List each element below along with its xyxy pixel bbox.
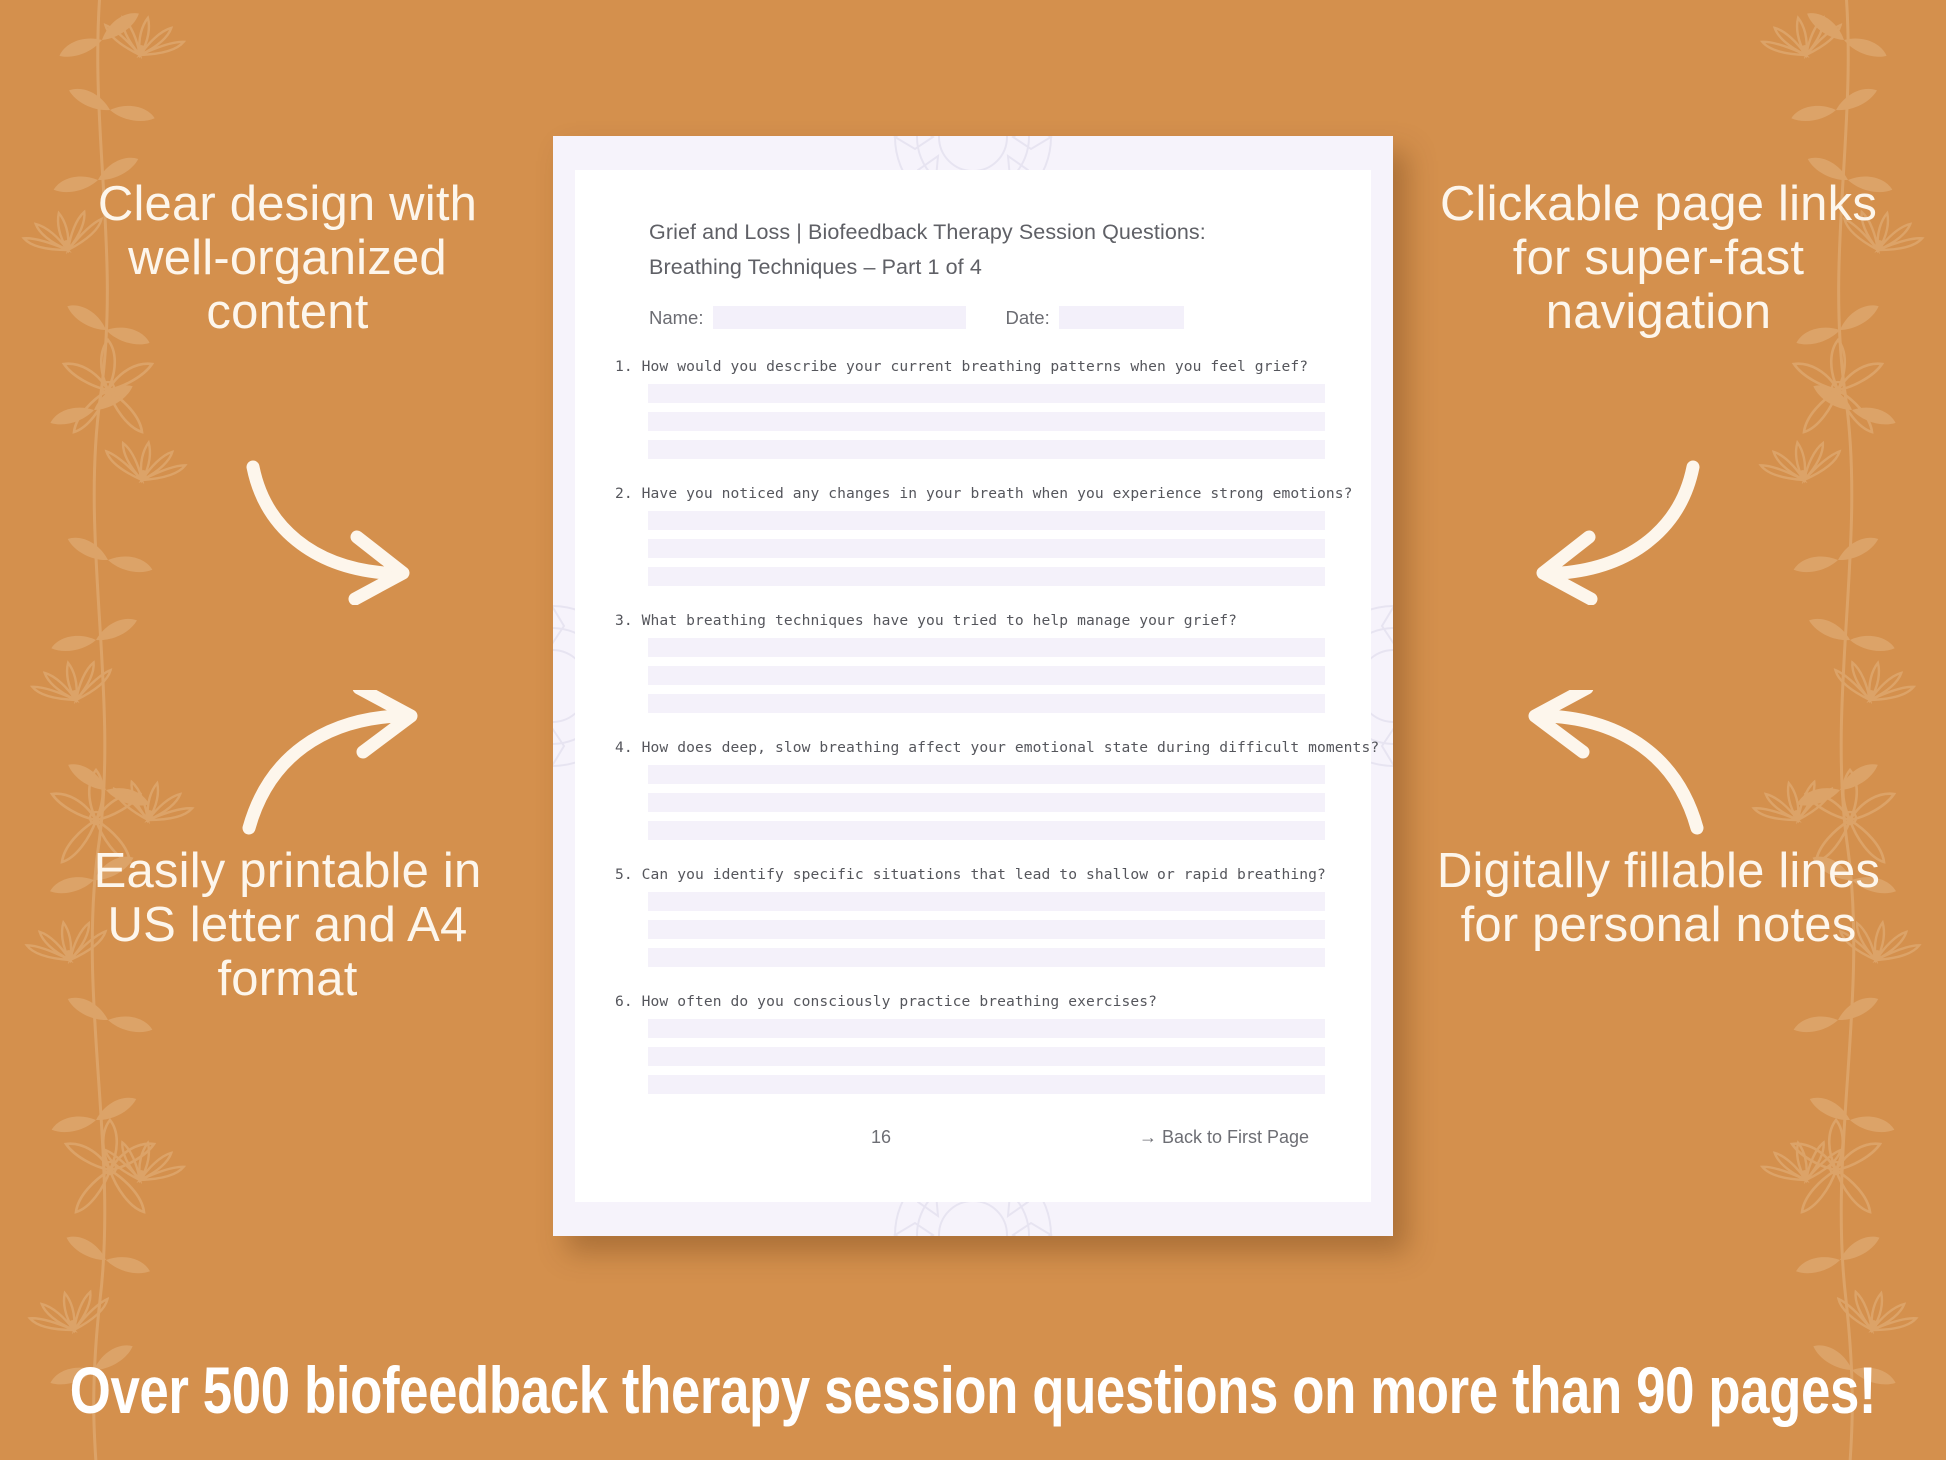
answer-line[interactable] [648, 948, 1325, 967]
question-item: 2. Have you noticed any changes in your … [615, 485, 1325, 586]
answer-lines [648, 765, 1325, 840]
feature-text-top-right: Clickable page links for super-fast navi… [1431, 178, 1886, 340]
answer-line[interactable] [648, 384, 1325, 403]
answer-line[interactable] [648, 412, 1325, 431]
curved-arrow-left-icon [1511, 690, 1711, 840]
question-text: 5. Can you identify specific situations … [615, 866, 1325, 883]
feature-text-bottom-left: Easily printable in US letter and A4 for… [60, 845, 515, 1007]
question-text: 3. What breathing techniques have you tr… [615, 612, 1325, 629]
page-number: 16 [871, 1127, 891, 1148]
feature-text-bottom-right: Digitally fillable lines for personal no… [1431, 845, 1886, 953]
answer-line[interactable] [648, 1019, 1325, 1038]
question-item: 5. Can you identify specific situations … [615, 866, 1325, 967]
back-to-first-page-link[interactable]: → Back to First Page [1139, 1127, 1309, 1148]
feature-text-top-left: Clear design with well-organized content [60, 178, 515, 340]
curved-arrow-right-icon [235, 455, 435, 605]
answer-line[interactable] [648, 567, 1325, 586]
answer-line[interactable] [648, 1047, 1325, 1066]
answer-line[interactable] [648, 765, 1325, 784]
answer-lines [648, 1019, 1325, 1094]
document-preview[interactable]: Grief and Loss | Biofeedback Therapy Ses… [553, 136, 1393, 1236]
question-list: 1. How would you describe your current b… [615, 358, 1325, 1120]
answer-line[interactable] [648, 539, 1325, 558]
answer-line[interactable] [648, 920, 1325, 939]
question-item: 6. How often do you consciously practice… [615, 993, 1325, 1094]
question-item: 3. What breathing techniques have you tr… [615, 612, 1325, 713]
question-item: 4. How does deep, slow breathing affect … [615, 739, 1325, 840]
date-input[interactable] [1059, 306, 1184, 329]
curved-arrow-right-icon [235, 690, 435, 840]
answer-lines [648, 638, 1325, 713]
document-title-line-2: Breathing Techniques – Part 1 of 4 [649, 250, 1311, 285]
name-label: Name: [649, 307, 704, 329]
answer-lines [648, 384, 1325, 459]
document-title-line-1: Grief and Loss | Biofeedback Therapy Ses… [649, 215, 1311, 250]
answer-line[interactable] [648, 892, 1325, 911]
name-date-row: Name: Date: [649, 306, 1184, 329]
answer-line[interactable] [648, 511, 1325, 530]
name-input[interactable] [713, 306, 966, 329]
answer-lines [648, 511, 1325, 586]
banner-text: Over 500 biofeedback therapy session que… [70, 1352, 1876, 1428]
question-text: 6. How often do you consciously practice… [615, 993, 1325, 1010]
curved-arrow-left-icon [1511, 455, 1711, 605]
answer-line[interactable] [648, 440, 1325, 459]
answer-line[interactable] [648, 666, 1325, 685]
answer-line[interactable] [648, 694, 1325, 713]
bottom-banner: Over 500 biofeedback therapy session que… [0, 1320, 1946, 1460]
question-text: 4. How does deep, slow breathing affect … [615, 739, 1325, 756]
question-text: 1. How would you describe your current b… [615, 358, 1325, 375]
answer-line[interactable] [648, 638, 1325, 657]
answer-line[interactable] [648, 793, 1325, 812]
question-item: 1. How would you describe your current b… [615, 358, 1325, 459]
answer-line[interactable] [648, 821, 1325, 840]
document-title: Grief and Loss | Biofeedback Therapy Ses… [649, 215, 1311, 285]
date-label: Date: [1006, 307, 1050, 329]
answer-lines [648, 892, 1325, 967]
document-frame: Grief and Loss | Biofeedback Therapy Ses… [553, 136, 1393, 1236]
document-footer: 16 → Back to First Page [649, 1127, 1309, 1148]
answer-line[interactable] [648, 1075, 1325, 1094]
document-page: Grief and Loss | Biofeedback Therapy Ses… [575, 170, 1371, 1202]
question-text: 2. Have you noticed any changes in your … [615, 485, 1325, 502]
